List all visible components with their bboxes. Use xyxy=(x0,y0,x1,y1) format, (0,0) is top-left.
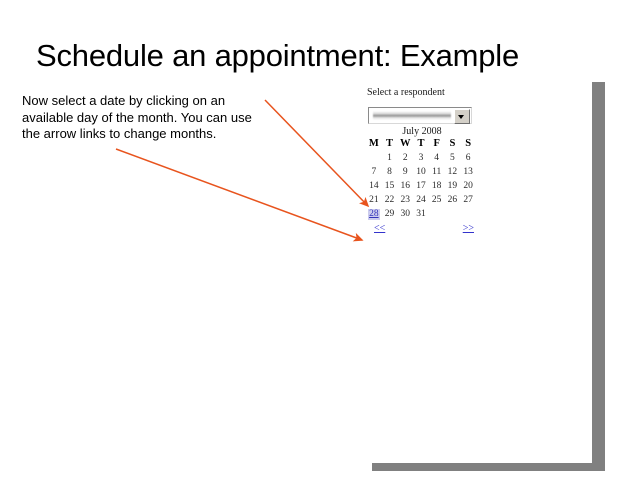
respondent-label: Select a respondent xyxy=(367,87,445,98)
calendar-weekday: T xyxy=(382,138,398,151)
calendar-day: 17 xyxy=(413,179,429,193)
calendar-weekday: S xyxy=(460,138,476,151)
calendar-day: 21 xyxy=(366,193,382,207)
calendar-grid: M T W T F S S 1 2 3 4 xyxy=(366,138,476,221)
calendar-day: 29 xyxy=(382,207,398,221)
calendar-day: 3 xyxy=(413,151,429,165)
calendar-day: 16 xyxy=(397,179,413,193)
calendar-next-month-link[interactable]: >> xyxy=(463,223,474,234)
callout-arrow-to-nav xyxy=(116,149,362,240)
calendar-day: 14 xyxy=(366,179,382,193)
calendar-day: 30 xyxy=(397,207,413,221)
calendar-day: 20 xyxy=(460,179,476,193)
calendar-day: 31 xyxy=(413,207,429,221)
respondent-selected-value xyxy=(373,111,451,120)
calendar-day: 4 xyxy=(429,151,445,165)
calendar-day xyxy=(445,207,461,221)
calendar-widget: July 2008 M T W T F S S xyxy=(366,126,478,237)
calendar-day: 23 xyxy=(397,193,413,207)
calendar-day-link[interactable]: 28 xyxy=(368,209,380,220)
calendar-month-label: July 2008 xyxy=(366,126,478,138)
calendar-day xyxy=(366,151,382,165)
calendar-day: 13 xyxy=(460,165,476,179)
calendar-day: 26 xyxy=(445,193,461,207)
calendar-week-row: 1 2 3 4 5 6 xyxy=(366,151,476,165)
calendar-day: 25 xyxy=(429,193,445,207)
calendar-prev-month-link[interactable]: << xyxy=(374,223,385,234)
calendar-day: 27 xyxy=(460,193,476,207)
calendar-day: 10 xyxy=(413,165,429,179)
calendar-day: 9 xyxy=(397,165,413,179)
calendar-weekday: F xyxy=(429,138,445,151)
calendar-week-row: 28 29 30 31 xyxy=(366,207,476,221)
calendar-day: 22 xyxy=(382,193,398,207)
embedded-screenshot: Select a respondent July 2008 M T W T F … xyxy=(362,82,592,463)
calendar-week-row: 14 15 16 17 18 19 20 xyxy=(366,179,476,193)
screenshot-shadow-bottom xyxy=(372,463,605,471)
calendar-weekday-row: M T W T F S S xyxy=(366,138,476,151)
respondent-select[interactable] xyxy=(368,107,472,124)
calendar-day: 6 xyxy=(460,151,476,165)
calendar-day: 5 xyxy=(445,151,461,165)
slide-body-text: Now select a date by clicking on an avai… xyxy=(22,93,272,143)
calendar-week-row: 7 8 9 10 11 12 13 xyxy=(366,165,476,179)
calendar-day: 7 xyxy=(366,165,382,179)
calendar-day: 11 xyxy=(429,165,445,179)
calendar-weekday: W xyxy=(397,138,413,151)
callout-arrow-to-day xyxy=(265,100,368,206)
chevron-down-icon[interactable] xyxy=(454,109,470,124)
calendar-day: 1 xyxy=(382,151,398,165)
calendar-week-row: 21 22 23 24 25 26 27 xyxy=(366,193,476,207)
calendar-weekday: S xyxy=(445,138,461,151)
calendar-day xyxy=(460,207,476,221)
calendar-weekday: M xyxy=(366,138,382,151)
calendar-day: 8 xyxy=(382,165,398,179)
screenshot-shadow-right xyxy=(592,82,605,464)
calendar-nav: << >> xyxy=(366,223,476,237)
calendar-day xyxy=(429,207,445,221)
calendar-day: 19 xyxy=(445,179,461,193)
calendar-day: 24 xyxy=(413,193,429,207)
calendar-day: 2 xyxy=(397,151,413,165)
calendar-day: 12 xyxy=(445,165,461,179)
slide-canvas: Schedule an appointment: Example Now sel… xyxy=(0,0,640,480)
calendar-day: 18 xyxy=(429,179,445,193)
calendar-day: 15 xyxy=(382,179,398,193)
calendar-weekday: T xyxy=(413,138,429,151)
page-title: Schedule an appointment: Example xyxy=(36,38,616,74)
calendar-day-selected[interactable]: 28 xyxy=(366,207,382,221)
